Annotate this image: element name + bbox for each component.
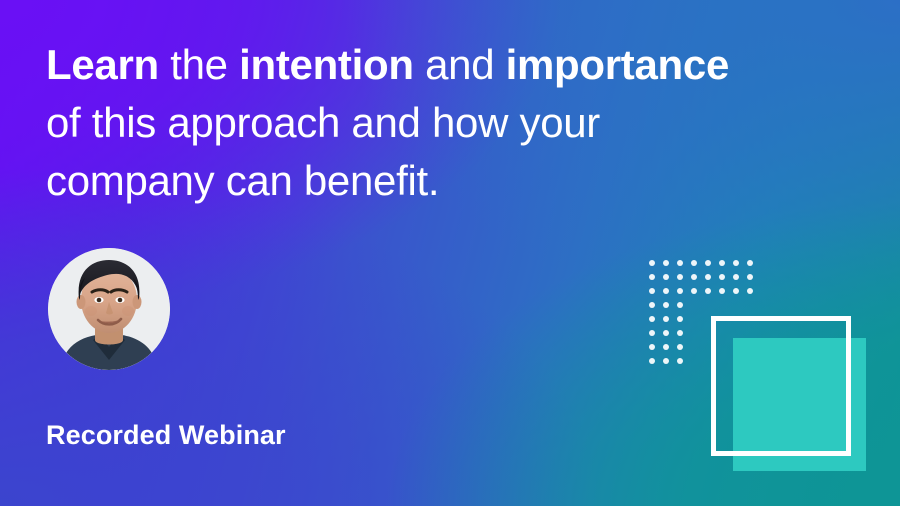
grid-dot xyxy=(687,284,701,298)
headline-line-2: of this approach and how your xyxy=(46,94,836,152)
grid-dot xyxy=(659,270,673,284)
grid-dot xyxy=(673,284,687,298)
headline-emphasis: Learn xyxy=(46,41,159,88)
grid-dot xyxy=(645,354,659,368)
headline-emphasis: importance xyxy=(506,41,729,88)
grid-dot xyxy=(715,256,729,270)
grid-dot xyxy=(659,340,673,354)
grid-dot xyxy=(659,256,673,270)
headline-text: company can benefit. xyxy=(46,157,439,204)
grid-dot xyxy=(659,284,673,298)
grid-dot xyxy=(659,298,673,312)
dot-grid-row xyxy=(645,298,757,312)
headline-emphasis: intention xyxy=(239,41,414,88)
grid-dot xyxy=(659,354,673,368)
grid-dot xyxy=(645,256,659,270)
grid-dot xyxy=(659,326,673,340)
grid-dot xyxy=(743,256,757,270)
grid-dot xyxy=(729,270,743,284)
grid-dot xyxy=(645,340,659,354)
speaker-portrait-image xyxy=(48,248,170,370)
headline-text: and xyxy=(414,41,506,88)
grid-dot xyxy=(743,270,757,284)
recorded-webinar-label: Recorded Webinar xyxy=(46,420,286,451)
headline-line-1: Learn the intention and importance xyxy=(46,36,836,94)
grid-dot xyxy=(715,284,729,298)
grid-dot xyxy=(673,298,687,312)
grid-dot xyxy=(743,284,757,298)
grid-dot xyxy=(645,270,659,284)
white-outlined-square-decoration xyxy=(711,316,851,456)
avatar xyxy=(48,248,170,370)
grid-dot xyxy=(715,270,729,284)
page-title: Learn the intention and importanceof thi… xyxy=(46,36,836,210)
grid-dot xyxy=(673,312,687,326)
dot-grid-row xyxy=(645,270,757,284)
grid-dot xyxy=(701,256,715,270)
grid-dot xyxy=(645,298,659,312)
grid-dot xyxy=(673,354,687,368)
webinar-promo-banner: Learn the intention and importanceof thi… xyxy=(0,0,900,506)
grid-dot xyxy=(701,270,715,284)
grid-dot xyxy=(687,270,701,284)
headline-text: of this approach and how your xyxy=(46,99,600,146)
grid-dot xyxy=(673,270,687,284)
grid-dot xyxy=(729,284,743,298)
grid-dot xyxy=(645,326,659,340)
headline-text: the xyxy=(159,41,239,88)
grid-dot xyxy=(645,312,659,326)
grid-dot xyxy=(673,326,687,340)
grid-dot xyxy=(645,284,659,298)
dot-grid-row xyxy=(645,284,757,298)
grid-dot xyxy=(673,256,687,270)
grid-dot xyxy=(659,312,673,326)
grid-dot xyxy=(673,340,687,354)
grid-dot xyxy=(701,284,715,298)
grid-dot xyxy=(729,256,743,270)
dot-grid-row xyxy=(645,256,757,270)
headline-line-3: company can benefit. xyxy=(46,152,836,210)
grid-dot xyxy=(687,256,701,270)
